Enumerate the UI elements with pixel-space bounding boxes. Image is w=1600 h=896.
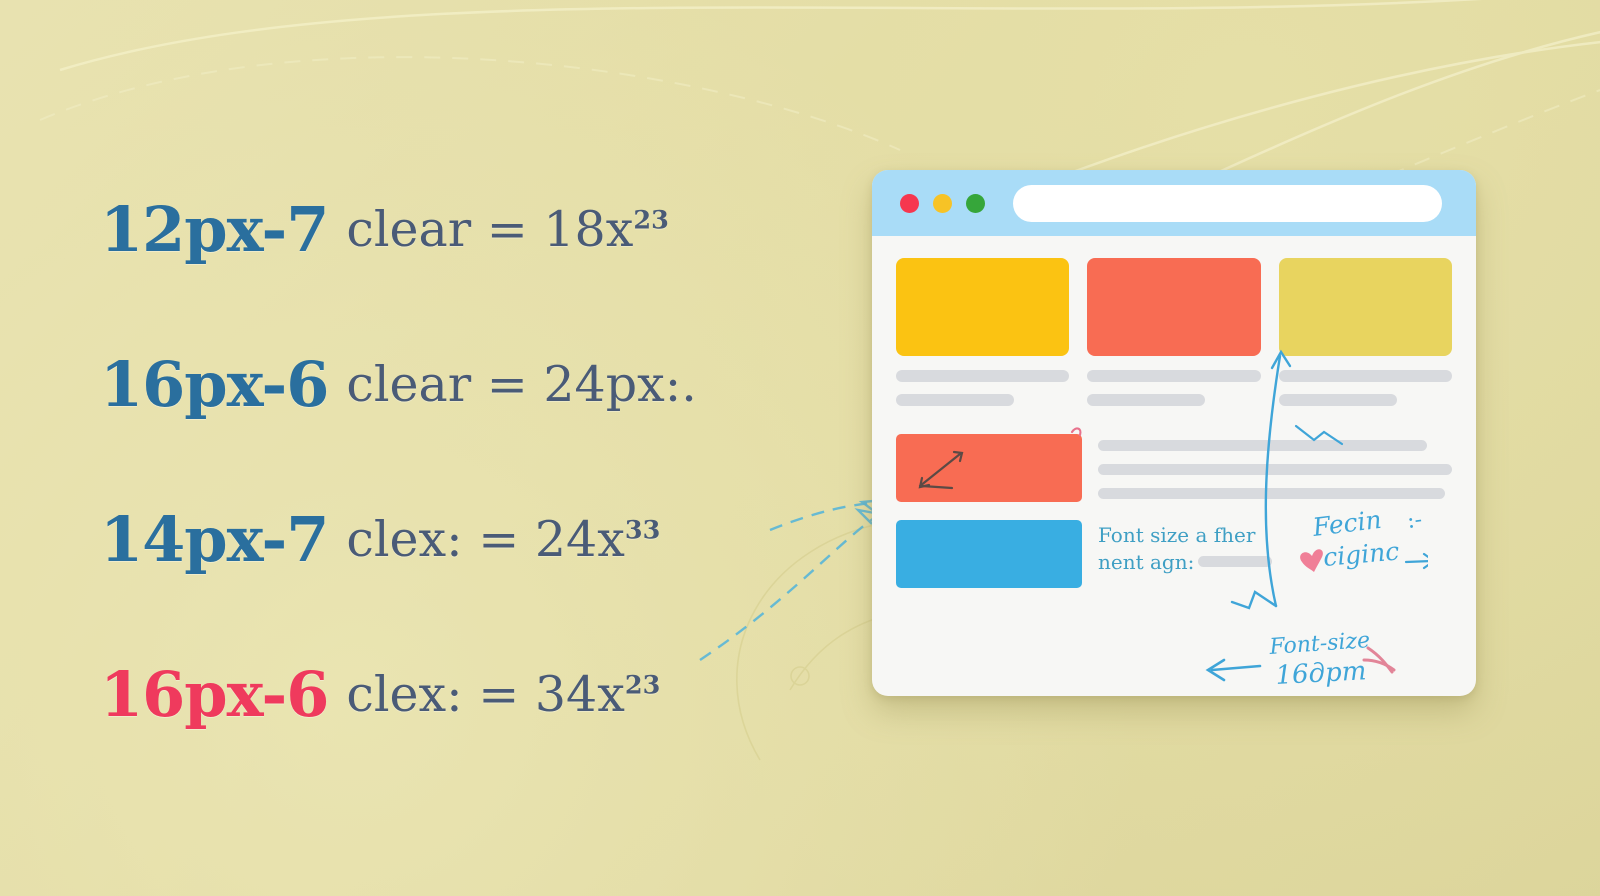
browser-viewport: Font size a fher nent agn: (872, 236, 1476, 696)
placeholder-bar (1098, 488, 1445, 499)
card-row (896, 258, 1452, 406)
equation-rest: clex: = 24x33 (346, 511, 660, 568)
text-lines-group (1098, 434, 1452, 499)
equation-row: 12px-7 clear = 18x23 (100, 152, 820, 307)
placeholder-bar (1098, 464, 1452, 475)
equation-superscript: 23 (633, 206, 668, 236)
note-line-2: nent agn: (1098, 549, 1272, 576)
card-thumbnail (1087, 258, 1260, 356)
annotation-fontsize-line2: 16дpm (1275, 656, 1367, 691)
equation-body: clear = 24px:. (346, 356, 696, 413)
note-text: Font size a fher nent agn: (1098, 520, 1272, 576)
equation-superscript: 23 (625, 671, 660, 701)
content-row-coral (896, 434, 1452, 502)
equation-rest: clex: = 34x23 (346, 666, 660, 723)
equation-prefix: 12px-7 (100, 193, 328, 266)
equation-prefix: 16px-6 (100, 348, 328, 421)
placeholder-bar (1087, 370, 1260, 382)
close-icon[interactable] (900, 194, 919, 213)
window-controls (900, 194, 985, 213)
card-coral[interactable] (1087, 258, 1260, 406)
equation-list: 12px-7 clear = 18x23 16px-6 clear = 24px… (100, 152, 820, 772)
block-coral[interactable] (896, 434, 1082, 502)
placeholder-bar (896, 394, 1014, 406)
browser-window: Font size a fher nent agn: (872, 170, 1476, 696)
note-line-1: Font size a fher (1098, 522, 1272, 549)
equation-superscript: 33 (625, 516, 660, 546)
resize-arrow-icon (910, 442, 980, 496)
card-gold[interactable] (896, 258, 1069, 406)
equation-rest: clear = 18x23 (346, 201, 668, 258)
card-thumbnail (896, 258, 1069, 356)
canvas: 12px-7 clear = 18x23 16px-6 clear = 24px… (0, 0, 1600, 896)
placeholder-bar (1279, 394, 1397, 406)
placeholder-bar (896, 370, 1069, 382)
placeholder-bar (1279, 370, 1452, 382)
note-line-2-text: nent agn: (1098, 550, 1194, 574)
equation-row: 14px-7 clex: = 24x33 (100, 462, 820, 617)
equation-body: clex: = 34x (346, 666, 624, 723)
minimize-icon[interactable] (933, 194, 952, 213)
placeholder-bar (1198, 556, 1272, 567)
equation-body: clex: = 24x (346, 511, 624, 568)
content-row-blue: Font size a fher nent agn: (896, 520, 1452, 588)
equation-prefix: 16px-6 (100, 658, 328, 731)
equation-prefix: 14px-7 (100, 503, 328, 576)
placeholder-bar (1098, 440, 1427, 451)
card-thumbnail (1279, 258, 1452, 356)
card-sand[interactable] (1279, 258, 1452, 406)
block-blue[interactable] (896, 520, 1082, 588)
placeholder-bar (1087, 394, 1205, 406)
browser-titlebar (872, 170, 1476, 236)
annotation-fontsize-line1: Font-size (1268, 628, 1371, 660)
equation-row: 16px-6 clear = 24px:. (100, 307, 820, 462)
equation-rest: clear = 24px:. (346, 356, 696, 413)
equation-row: 16px-6 clex: = 34x23 (100, 617, 820, 772)
maximize-icon[interactable] (966, 194, 985, 213)
url-input[interactable] (1013, 185, 1442, 222)
equation-body: clear = 18x (346, 201, 633, 258)
